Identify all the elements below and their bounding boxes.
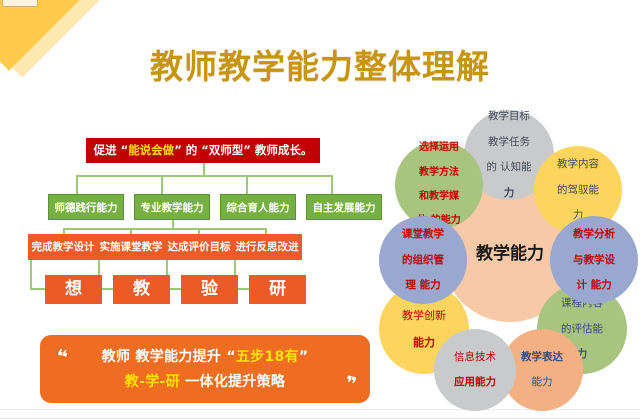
connector-bus-2	[63, 228, 266, 230]
connector-trunk	[203, 163, 205, 175]
venn-label-cognition: 教学目标 教学任务 的 认知能 力	[478, 110, 539, 200]
task-box-1[interactable]: 完成教学设计	[28, 234, 98, 260]
corner-badge	[2, 0, 38, 7]
venn-circle-analysis[interactable]: 教学分析 与教学设 计 能力	[550, 216, 638, 304]
strategy-line-1: 教师 教学能力提升 “五步18有”	[40, 346, 370, 366]
strategy-line1-c: ”	[299, 349, 309, 365]
task-box-3[interactable]: 达成评价目标	[164, 234, 234, 260]
capability-box-3[interactable]: 综合育人能力	[220, 194, 296, 220]
connector-elbow-3a-v	[30, 260, 32, 288]
venn-label-content: 教学内容 的驾驭能 力	[549, 158, 607, 222]
divider-line-2	[0, 418, 640, 419]
banner-highlight: 能说会做	[128, 143, 174, 157]
banner-prefix: 促进 “	[94, 143, 129, 157]
banner-suffix: ” 的 “双师型” 教师成长。	[174, 143, 312, 157]
strategy-line2-highlight: 教-学-研	[125, 374, 180, 390]
page-title: 教师教学能力整体理解	[0, 40, 640, 88]
venn-circle-methods[interactable]: 选择运用 教学方法 和教学媒 体 的能力	[395, 141, 483, 229]
task-box-2[interactable]: 实施课堂教学	[96, 234, 166, 260]
venn-center-label: 教学能力	[472, 244, 548, 265]
venn-label-analysis: 教学分析 与教学设 计 能力	[565, 228, 623, 292]
connector-drop-1b	[161, 175, 163, 194]
capability-venn-diagram: 教学能力 教学目标 教学任务 的 认知能 力 选择运用 教学方法 和教学媒 体 …	[382, 108, 638, 414]
strategy-callout[interactable]: ❝ ❞ 教师 教学能力提升 “五步18有” 教-学-研 一体化提升策略	[40, 335, 370, 403]
strategy-line1-a: 教师 教学能力提升 “	[102, 349, 236, 365]
capability-box-2[interactable]: 专业教学能力	[134, 194, 210, 220]
venn-label-infotech: 信息技术 应用能力	[446, 351, 504, 389]
venn-label-organize: 课堂教学 的组织管 理 能力	[394, 228, 452, 292]
venn-label-methods: 选择运用 教学方法 和教学媒 体 的能力	[409, 142, 468, 227]
connector-bus-1	[76, 175, 332, 177]
step-box-2[interactable]: 教	[113, 275, 170, 304]
venn-label-expression: 教学表达 能力	[513, 351, 571, 389]
step-box-1[interactable]: 想	[45, 275, 102, 304]
connector-drop-1d	[331, 175, 333, 194]
slide-canvas: 教师教学能力整体理解 促进 “能说会做” 的 “双师型” 教师成长。 师德践行能…	[0, 0, 640, 420]
connector-trunk-2	[172, 220, 174, 228]
flowchart: 促进 “能说会做” 的 “双师型” 教师成长。 师德践行能力 专业教学能力 综合…	[28, 128, 378, 328]
connector-elbow-3a-h	[30, 288, 46, 290]
capability-box-4[interactable]: 自主发展能力	[306, 194, 382, 220]
strategy-line2-b: 一体化提升策略	[180, 374, 285, 390]
strategy-line1-highlight: 五步18有	[236, 349, 299, 365]
flowchart-banner: 促进 “能说会做” 的 “双师型” 教师成长。	[86, 138, 320, 163]
capability-box-1[interactable]: 师德践行能力	[48, 194, 124, 220]
connector-drop-1c	[246, 175, 248, 194]
strategy-line-2: 教-学-研 一体化提升策略	[40, 371, 370, 391]
task-box-4[interactable]: 进行反思改进	[232, 234, 302, 260]
connector-drop-1a	[76, 175, 78, 194]
step-box-3[interactable]: 验	[181, 275, 238, 304]
venn-circle-organize[interactable]: 课堂教学 的组织管 理 能力	[379, 216, 467, 304]
venn-circle-infotech[interactable]: 信息技术 应用能力	[434, 329, 516, 411]
step-box-4[interactable]: 研	[249, 275, 306, 304]
